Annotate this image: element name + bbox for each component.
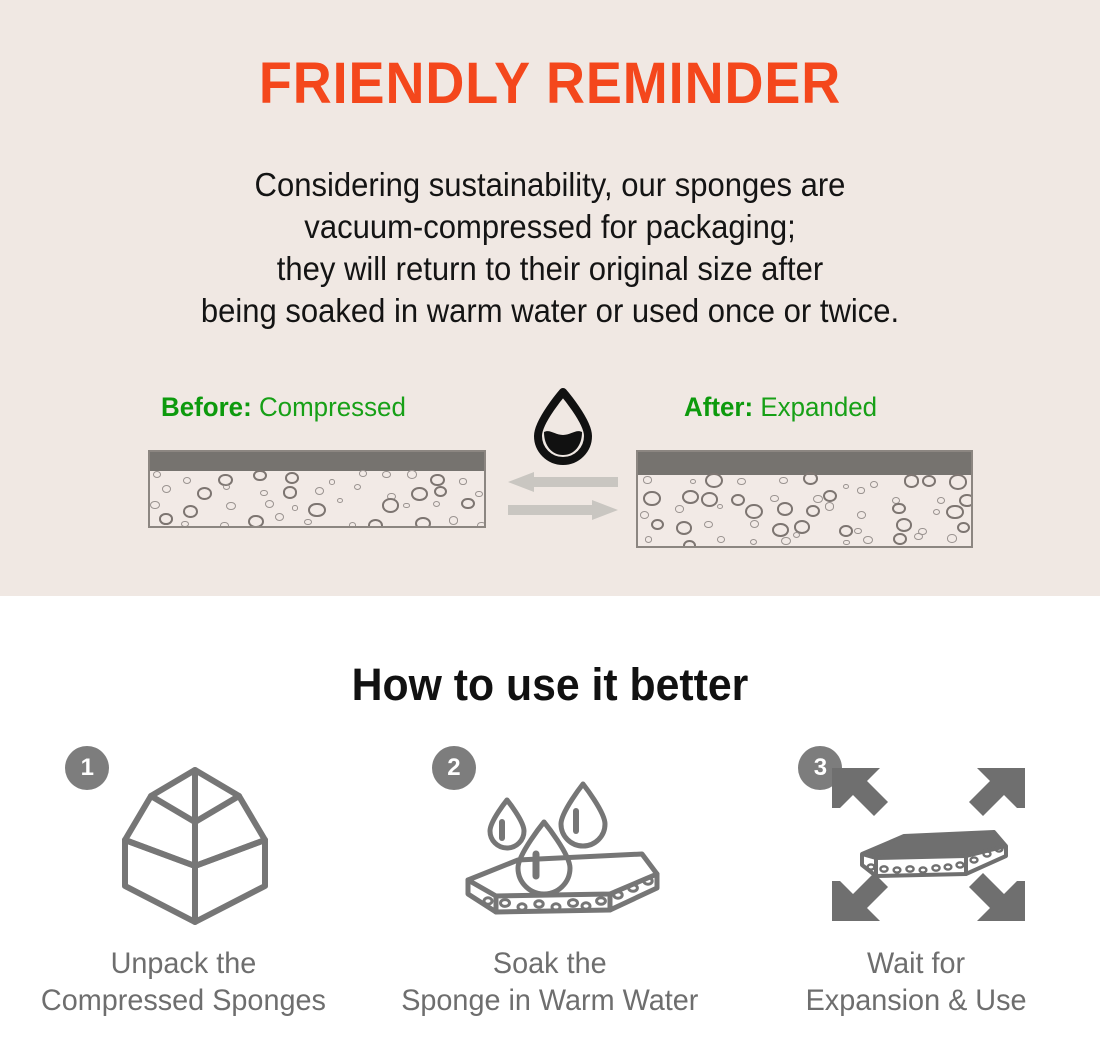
- sponge-pore: [781, 537, 791, 545]
- sponge-pore: [382, 498, 399, 513]
- step-artwork: 3: [796, 744, 1036, 929]
- sponge-pore: [183, 505, 198, 518]
- sponge-pore: [947, 534, 957, 542]
- sponge-pore: [292, 505, 299, 511]
- sponge-pore: [777, 502, 793, 515]
- sponge-pore: [683, 540, 696, 548]
- sponge-pore: [162, 485, 172, 493]
- page-title: FRIENDLY REMINDER: [39, 55, 1062, 113]
- sponge-pore: [329, 479, 335, 484]
- reminder-body-line: vacuum-compressed for packaging;: [33, 206, 1067, 248]
- step-caption: Wait for Expansion & Use: [806, 945, 1027, 1019]
- sponge-pore: [922, 475, 936, 487]
- sponge-pore: [854, 528, 862, 535]
- sponge-pore: [220, 522, 229, 528]
- sponge-pore: [304, 519, 311, 525]
- sponge-scrub-layer: [150, 452, 484, 471]
- sponge-pore: [779, 477, 788, 485]
- sponge-pore: [957, 522, 970, 533]
- sponge-pore: [477, 522, 486, 528]
- step-caption-line: Compressed Sponges: [41, 982, 326, 1019]
- sponge-pore: [181, 521, 189, 528]
- howto-title: How to use it better: [28, 659, 1073, 711]
- sponge-pore: [643, 476, 651, 483]
- sponge-pore: [701, 492, 718, 507]
- sponge-pore: [183, 477, 191, 484]
- sponge-pore: [737, 478, 746, 486]
- transformation-indicator: [508, 388, 618, 538]
- reminder-body-text: Considering sustainability, our sponges …: [33, 164, 1067, 332]
- sponge-pore: [893, 533, 907, 545]
- reminder-panel: FRIENDLY REMINDER Considering sustainabi…: [0, 0, 1100, 596]
- sponge-pore: [959, 494, 973, 508]
- sponge-pore: [337, 498, 343, 503]
- expanding-sponge-arrows-icon: [826, 762, 1031, 927]
- sponge-scrub-layer: [638, 452, 971, 475]
- before-after-comparison: Before: Compressed After: Expanded: [0, 392, 1100, 562]
- step-caption-line: Sponge in Warm Water: [401, 982, 698, 1019]
- sponge-pore: [675, 505, 684, 513]
- before-label: Before: Compressed: [161, 392, 406, 423]
- sponge-pore: [434, 486, 447, 497]
- expanded-sponge-image: [636, 450, 973, 548]
- sponge-pore: [803, 472, 818, 485]
- water-drop-icon: [530, 388, 596, 466]
- sponge-pore: [731, 494, 745, 506]
- compressed-sponge-image: [148, 450, 486, 528]
- after-label-rest: Expanded: [760, 392, 877, 422]
- sponge-pore: [823, 490, 837, 502]
- sponge-pore: [459, 478, 466, 484]
- sponge-pore: [750, 539, 757, 545]
- sponge-pore: [308, 503, 325, 518]
- sponge-pore: [682, 490, 699, 505]
- how-to-use-panel: How to use it better 1: [0, 596, 1100, 1039]
- sponge-pore: [285, 472, 299, 484]
- sponge-pore: [407, 470, 417, 478]
- step-caption-line: Wait for: [806, 945, 1027, 982]
- sponge-pore: [896, 518, 912, 532]
- step-caption-line: Expansion & Use: [806, 982, 1027, 1019]
- sponge-pore: [645, 536, 652, 542]
- sponge-pore: [433, 501, 440, 507]
- step-item: 2: [367, 744, 734, 1019]
- sponge-pore: [368, 519, 383, 528]
- sponge-pore: [248, 515, 264, 528]
- sponge-pore: [415, 517, 430, 528]
- sponge-pore: [843, 540, 850, 546]
- before-label-rest: Compressed: [259, 392, 406, 422]
- open-box-icon: [93, 762, 298, 927]
- sponge-pore: [750, 520, 759, 528]
- sponge-pore: [354, 484, 361, 490]
- sponge-pore: [825, 502, 835, 510]
- sponge-pore: [359, 470, 367, 477]
- sponge-pore: [449, 516, 459, 524]
- step-artwork: 2: [430, 744, 670, 929]
- reminder-body-line: being soaked in warm water or used once …: [33, 290, 1067, 332]
- sponge-pore: [403, 503, 409, 508]
- sponge-pore: [411, 487, 428, 502]
- sponge-pore: [704, 521, 712, 528]
- step-item: 1 Unpack: [0, 744, 367, 1019]
- reminder-body-line: they will return to their original size …: [33, 248, 1067, 290]
- sponge-pore: [857, 511, 866, 519]
- sponge-pore: [690, 479, 696, 484]
- sponge-pore: [839, 525, 853, 537]
- water-drops-on-sponge-icon: [460, 762, 665, 927]
- sponge-pore: [651, 519, 664, 530]
- sponge-pore: [933, 509, 940, 515]
- sponge-pore: [253, 470, 266, 481]
- after-label: After: Expanded: [684, 392, 877, 423]
- sponge-pore: [265, 500, 274, 508]
- sponge-pore: [949, 474, 967, 489]
- sponge-pore: [705, 473, 723, 488]
- sponge-pore: [349, 522, 357, 528]
- before-label-strong: Before:: [161, 392, 252, 422]
- sponge-pore: [223, 484, 230, 490]
- step-item: 3: [733, 744, 1100, 1019]
- sponge-pore: [843, 484, 849, 489]
- sponge-pore: [153, 471, 161, 478]
- step-caption: Soak the Sponge in Warm Water: [401, 945, 698, 1019]
- sponge-pore: [260, 490, 268, 497]
- sponge-pore: [283, 486, 298, 498]
- sponge-pore: [275, 513, 285, 521]
- sponge-pore: [382, 471, 390, 478]
- sponge-pore: [676, 521, 692, 535]
- reminder-body-line: Considering sustainability, our sponges …: [33, 164, 1067, 206]
- sponge-pore: [461, 498, 475, 510]
- sponge-pore: [226, 502, 235, 510]
- sponge-pore: [150, 501, 160, 509]
- after-label-strong: After:: [684, 392, 753, 422]
- step-caption: Unpack the Compressed Sponges: [41, 945, 326, 1019]
- sponge-pore: [770, 495, 779, 502]
- sponge-pore: [946, 505, 963, 520]
- sponge-pore: [772, 523, 789, 538]
- sponge-pore: [640, 511, 649, 519]
- sponge-pore: [914, 533, 923, 540]
- sponge-pore: [813, 495, 823, 503]
- step-caption-line: Unpack the: [41, 945, 326, 982]
- sponge-pore: [857, 487, 865, 493]
- step-caption-line: Soak the: [401, 945, 698, 982]
- sponge-pore: [793, 532, 800, 538]
- sponge-pore: [806, 505, 820, 517]
- sponge-pore: [159, 513, 172, 524]
- sponge-pore: [904, 474, 920, 487]
- sponge-pore: [315, 487, 324, 495]
- sponge-pore: [430, 474, 445, 486]
- sponge-pore: [717, 504, 723, 509]
- sponge-pore: [475, 491, 483, 497]
- sponge-pore: [643, 491, 660, 506]
- sponge-pore: [870, 481, 878, 488]
- sponge-pore: [745, 504, 763, 519]
- steps-list: 1 Unpack: [0, 744, 1100, 1019]
- sponge-pore: [937, 497, 945, 504]
- two-way-arrows-icon: [508, 472, 618, 520]
- sponge-pore: [863, 536, 873, 544]
- step-artwork: 1: [63, 744, 303, 929]
- sponge-pore: [197, 487, 212, 500]
- sponge-pore: [892, 503, 905, 514]
- sponge-pore: [717, 536, 725, 543]
